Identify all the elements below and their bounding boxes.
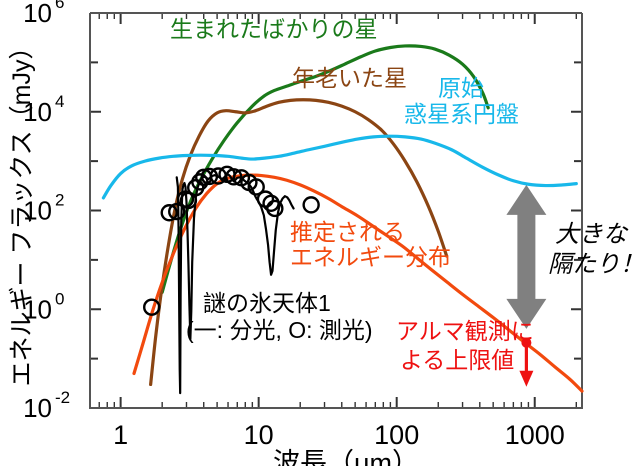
sed-chart-svg: 1101001000 10610410210010-2 生まれたばかりの星年老い… (0, 0, 640, 466)
x-tick-label: 100 (374, 420, 419, 450)
annotation-sed-line2: エネルギー分布 (290, 244, 451, 270)
annotation-alma-line1: アルマ観測に (396, 318, 534, 344)
annotation-mystery-object: 謎の氷天体1 (203, 290, 331, 316)
x-axis-title: 波長（μm） (273, 448, 419, 466)
annotation-sed-line1: 推定される (290, 219, 405, 245)
x-tick-label: 1 (113, 420, 128, 450)
svg-text:2: 2 (55, 191, 64, 210)
svg-text:10: 10 (23, 0, 52, 28)
annotation-newborn-star: 生まれたばかりの星 (170, 16, 377, 42)
chart-figure: 1101001000 10610410210010-2 生まれたばかりの星年老い… (0, 0, 640, 466)
svg-text:6: 6 (55, 0, 64, 12)
y-axis-title: エネルギー フラックス（mJy） (8, 34, 36, 386)
annotation-disk-line2: 惑星系円盤 (404, 101, 519, 127)
x-tick-label: 1000 (505, 420, 565, 450)
annotation-disk-line1: 原始 (438, 75, 484, 101)
x-tick-label: 10 (244, 420, 274, 450)
svg-text:-2: -2 (55, 388, 70, 407)
annotation-alma-line2: よる上限値 (400, 347, 514, 373)
svg-text:4: 4 (55, 92, 64, 111)
svg-text:0: 0 (55, 289, 64, 308)
annotation-mystery-legend: (一: 分光, O: 測光) (186, 317, 373, 343)
svg-text:10: 10 (23, 393, 52, 423)
annotation-old-star: 年老いた星 (292, 65, 407, 91)
annotation-gap-line2: 隔たり！ (548, 251, 640, 278)
annotation-gap-line1: 大きな (555, 221, 629, 248)
svg-text:エネルギー フラックス（mJy）: エネルギー フラックス（mJy） (8, 34, 36, 386)
